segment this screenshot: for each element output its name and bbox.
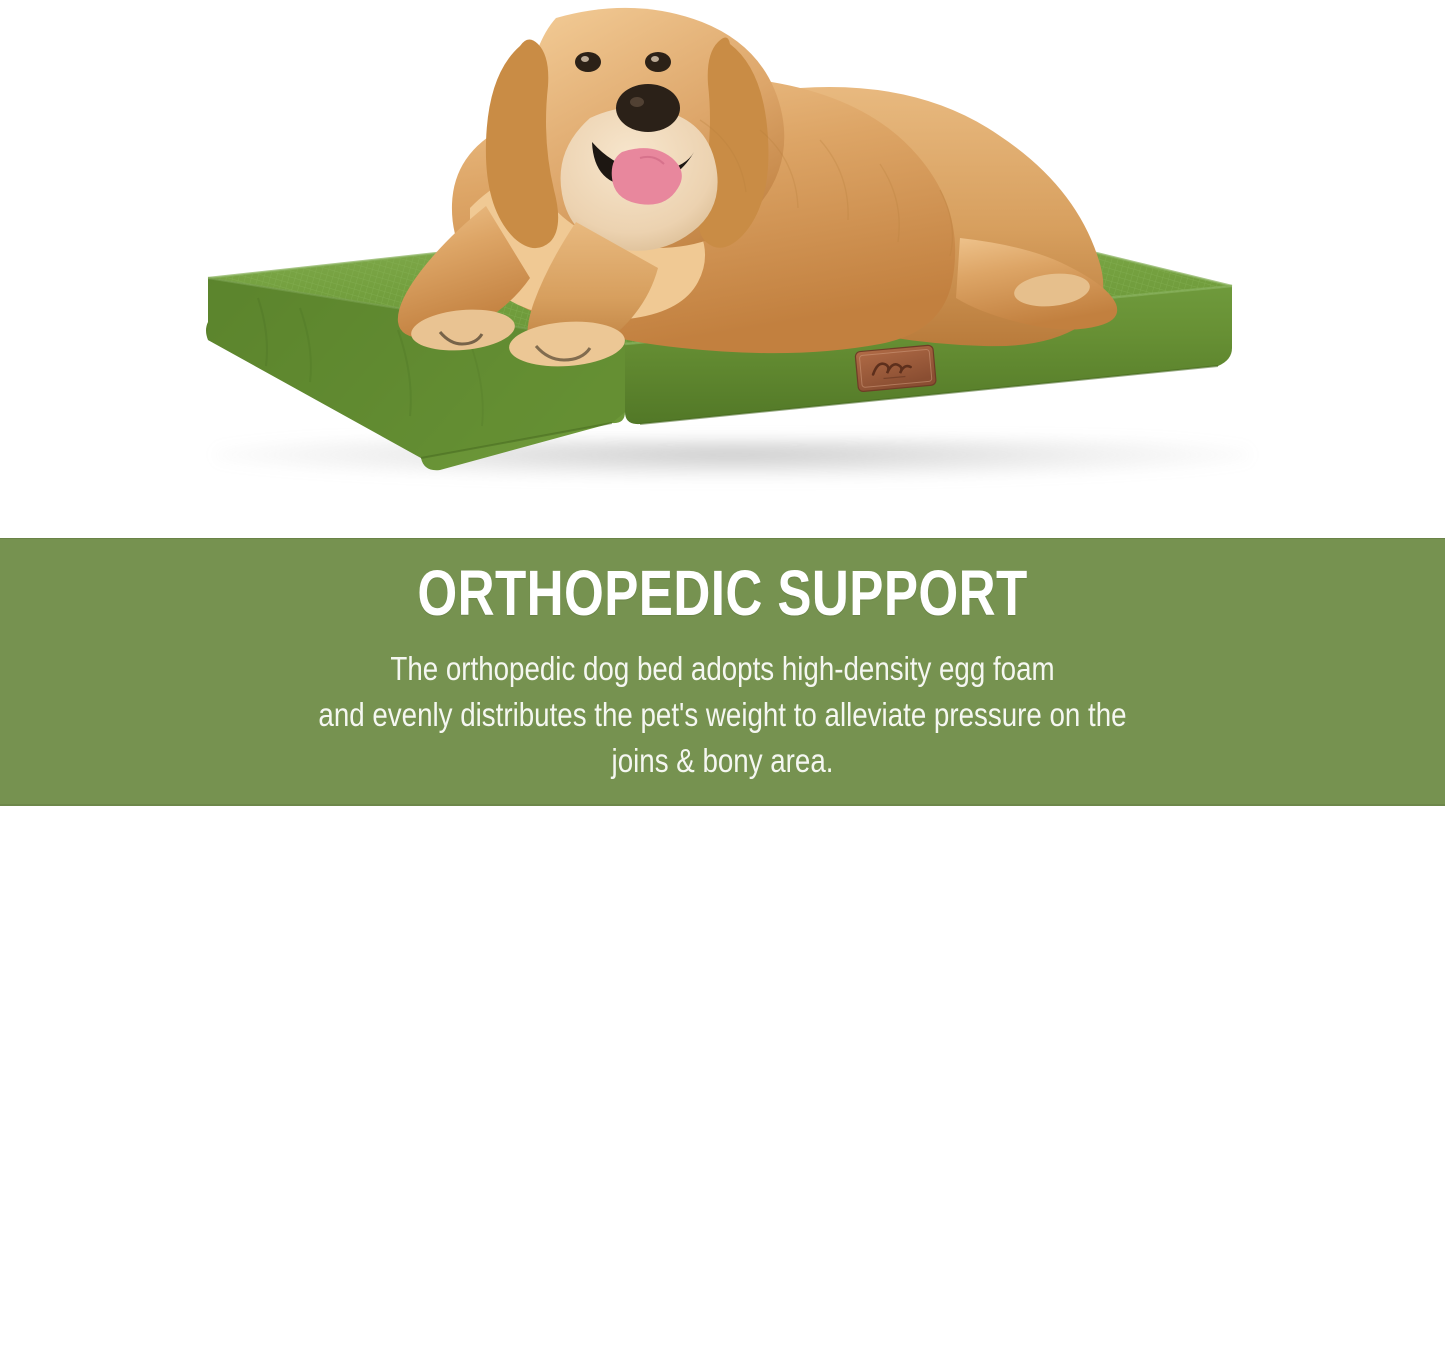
hero-product-photo <box>0 0 1445 540</box>
banner-body-line-1: The orthopedic dog bed adopts high-densi… <box>116 646 1330 692</box>
banner-title: ORTHOPEDIC SUPPORT <box>145 560 1301 627</box>
product-photo-illustration <box>0 0 1445 540</box>
orthopedic-support-banner: ORTHOPEDIC SUPPORT The orthopedic dog be… <box>0 538 1445 806</box>
banner-body: The orthopedic dog bed adopts high-densi… <box>116 646 1330 784</box>
banner-body-line-3: joins & bony area. <box>116 738 1330 784</box>
dog-head <box>486 8 784 251</box>
brand-tag <box>855 345 936 392</box>
golden-retriever <box>398 8 1117 370</box>
egg-foam-diagram: Increased Airflow Relieve Pressure Point… <box>0 806 1445 1349</box>
hero-stage <box>0 0 1445 540</box>
banner-body-line-2: and evenly distributes the pet's weight … <box>116 692 1330 738</box>
